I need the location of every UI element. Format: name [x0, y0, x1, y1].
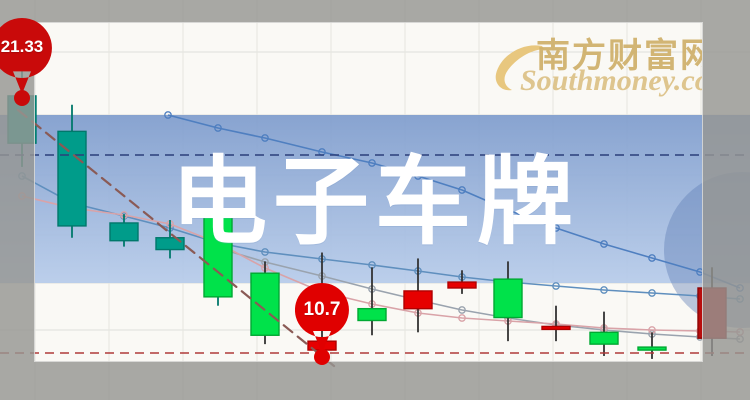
screenshot-root: 南方财富网 Southmoney.com 电子车牌 21.3310.7 [0, 0, 750, 400]
balloon-shape [0, 18, 52, 112]
balloon-label: 10.7 [295, 299, 349, 321]
balloon-shape [295, 283, 349, 371]
upper-price-marker: 21.33 [0, 18, 52, 112]
lower-price-marker: 10.7 [295, 283, 349, 371]
price-markers-layer: 21.3310.7 [0, 0, 750, 400]
balloon-label: 21.33 [0, 37, 52, 57]
